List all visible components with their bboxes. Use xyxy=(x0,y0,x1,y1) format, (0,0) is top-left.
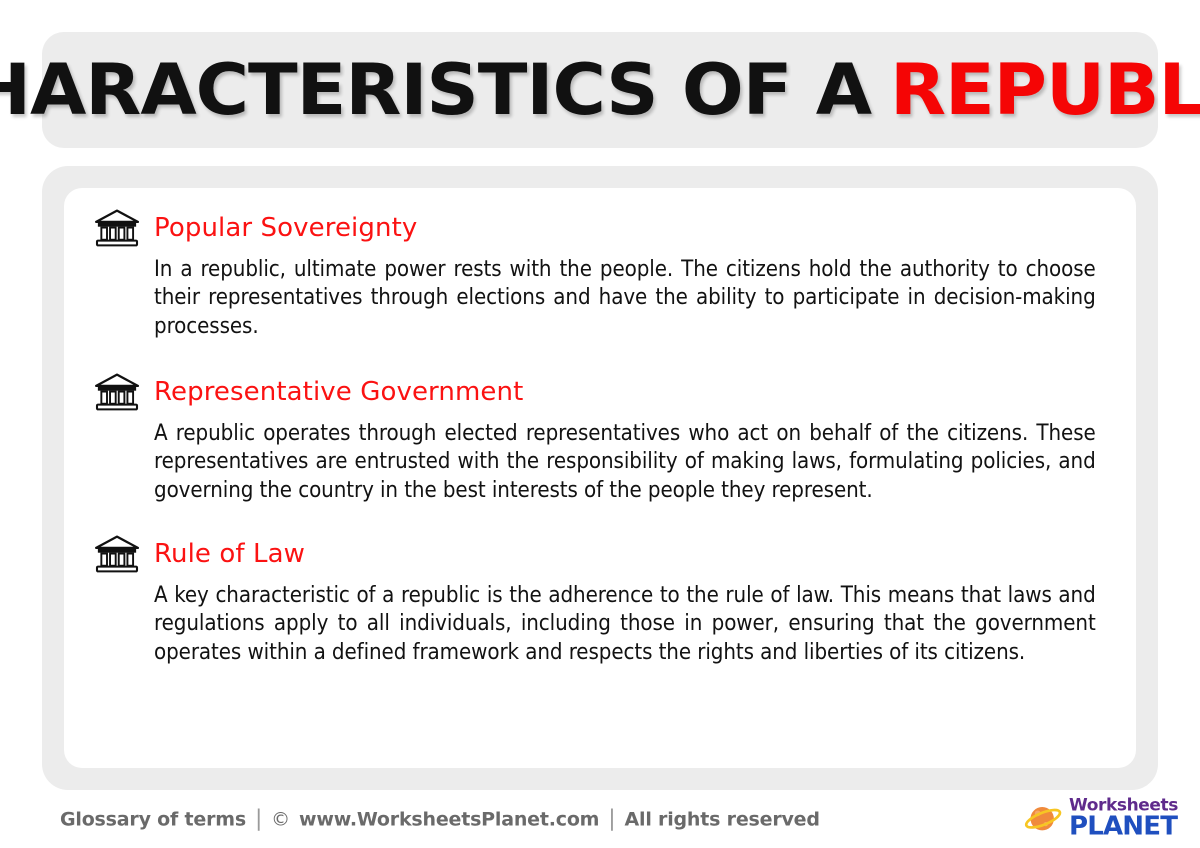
section-title: Popular Sovereignty xyxy=(154,215,417,241)
footer-rights: All rights reserved xyxy=(625,808,820,830)
page-title: CHARACTERISTICS OF AREPUBLIC xyxy=(20,32,1181,148)
bank-building-icon xyxy=(94,208,140,248)
logo-line-planet: PLANET xyxy=(1069,815,1178,839)
page-title-accent: REPUBLIC xyxy=(890,55,1200,125)
section-title: Rule of Law xyxy=(154,541,305,567)
characteristic-section: Popular Sovereignty In a republic, ultim… xyxy=(94,206,1110,340)
section-header: Rule of Law xyxy=(94,532,1110,576)
footer-separator: | xyxy=(255,807,262,832)
section-title: Representative Government xyxy=(154,379,523,405)
section-body: A key characteristic of a republic is th… xyxy=(154,581,1096,666)
copyright-icon: © xyxy=(271,808,290,830)
footer: Glossary of terms | © www.WorksheetsPlan… xyxy=(0,790,1200,848)
planet-with-ring-icon xyxy=(1024,801,1064,837)
page-title-plain: CHARACTERISTICS OF A xyxy=(0,55,871,125)
bank-building-icon xyxy=(94,372,140,412)
footer-separator: | xyxy=(608,807,615,832)
bank-building-icon xyxy=(94,534,140,574)
section-header: Popular Sovereignty xyxy=(94,206,1110,250)
section-header: Representative Government xyxy=(94,370,1110,414)
content-card: Popular Sovereignty In a republic, ultim… xyxy=(64,188,1136,768)
section-body: In a republic, ultimate power rests with… xyxy=(154,255,1096,340)
footer-glossary-label: Glossary of terms xyxy=(60,808,246,830)
characteristic-section: Representative Government A republic ope… xyxy=(94,370,1110,504)
content-panel: Popular Sovereignty In a republic, ultim… xyxy=(42,166,1158,790)
header-band: CHARACTERISTICS OF AREPUBLIC xyxy=(42,32,1158,148)
logo-wordmark: Worksheets PLANET xyxy=(1069,799,1178,840)
footer-credits: Glossary of terms | © www.WorksheetsPlan… xyxy=(60,807,820,832)
infographic-page: CHARACTERISTICS OF AREPUBLIC Popu xyxy=(0,0,1200,848)
section-body: A republic operates through elected repr… xyxy=(154,419,1096,504)
worksheets-planet-logo[interactable]: Worksheets PLANET xyxy=(1024,799,1178,840)
footer-website[interactable]: www.WorksheetsPlanet.com xyxy=(299,808,599,830)
characteristic-section: Rule of Law A key characteristic of a re… xyxy=(94,532,1110,666)
